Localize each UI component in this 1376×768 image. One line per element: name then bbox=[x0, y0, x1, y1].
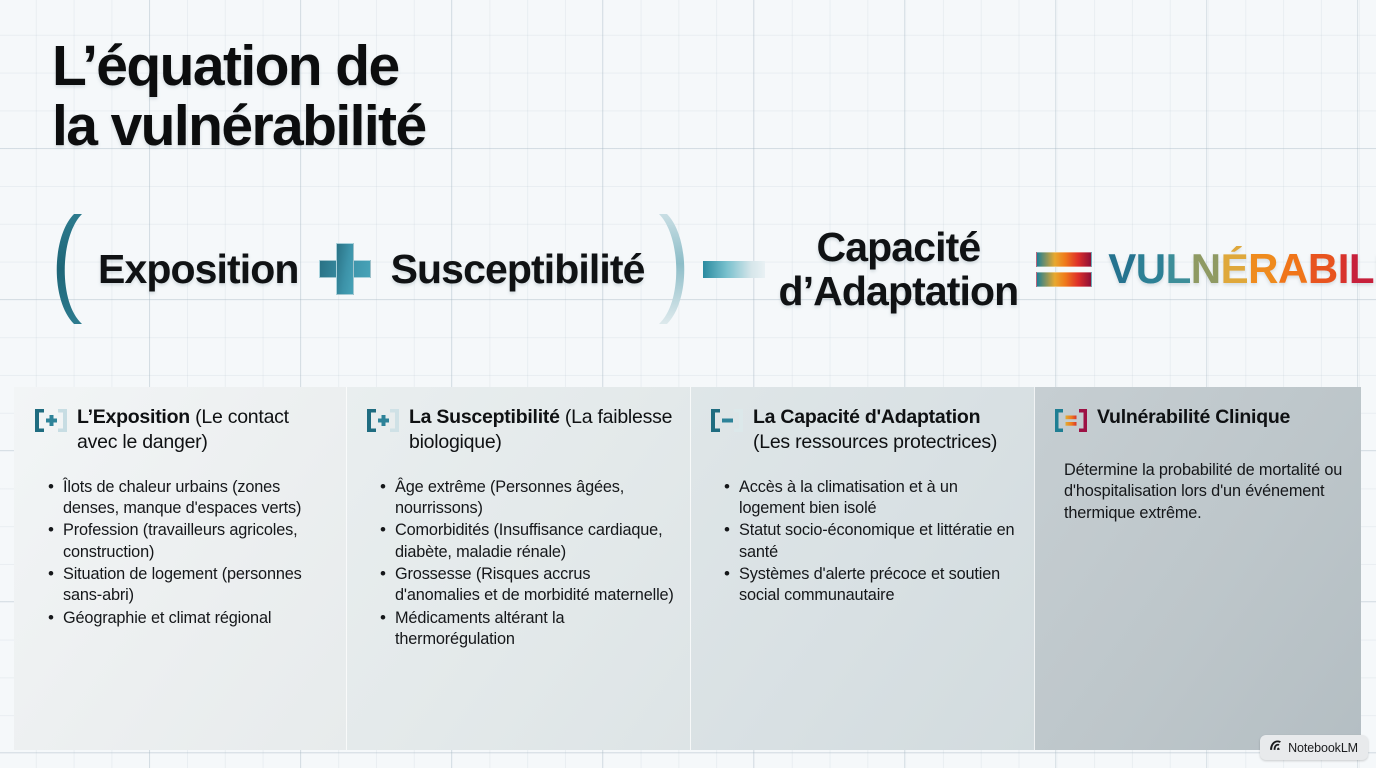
result-letter: L bbox=[1166, 245, 1191, 292]
list-item: Accès à la climatisation et à un logemen… bbox=[724, 477, 1018, 520]
card-bullet-list: Îlots de chaleur urbains (zones denses, … bbox=[48, 477, 330, 629]
card-title: La Capacité d'Adaptation bbox=[753, 406, 980, 428]
card-susceptibilite: La Susceptibilité (La faiblesse biologiq… bbox=[346, 387, 690, 750]
result-letter: U bbox=[1136, 245, 1166, 292]
list-item: Médicaments altérant la thermorégulation bbox=[380, 608, 674, 651]
card-title-block: La Susceptibilité (La faiblesse biologiq… bbox=[409, 405, 674, 455]
list-item: Situation de logement (personnes sans-ab… bbox=[48, 564, 330, 607]
card-header: La Capacité d'Adaptation (Les ressources… bbox=[710, 405, 1018, 455]
result-letter: É bbox=[1221, 245, 1249, 292]
list-item: Grossesse (Risques accrus d'anomalies et… bbox=[380, 564, 674, 607]
bracket-plus-icon bbox=[366, 408, 400, 433]
list-item: Âge extrême (Personnes âgées, nourrisson… bbox=[380, 477, 674, 520]
card-exposition: L’Exposition (Le contact avec le danger)… bbox=[14, 387, 346, 750]
term-susceptibilite: Susceptibilité bbox=[391, 246, 645, 293]
equals-operator-icon bbox=[1036, 247, 1092, 292]
vulnerability-equation: Exposition Susceptibilité Capacité d’Ada… bbox=[48, 205, 1348, 333]
result-letter: L bbox=[1349, 245, 1374, 292]
minus-operator-icon bbox=[703, 261, 765, 278]
bracket-equals-icon bbox=[1054, 408, 1088, 433]
card-title: L’Exposition bbox=[77, 406, 190, 428]
card-header: La Susceptibilité (La faiblesse biologiq… bbox=[366, 405, 674, 455]
list-item: Comorbidités (Insuffisance cardiaque, di… bbox=[380, 520, 674, 563]
card-bullet-list: Accès à la climatisation et à un logemen… bbox=[724, 477, 1018, 607]
card-header: L’Exposition (Le contact avec le danger) bbox=[34, 405, 330, 455]
plus-operator-icon bbox=[319, 243, 371, 295]
card-capacite-adaptation: La Capacité d'Adaptation (Les ressources… bbox=[690, 387, 1034, 750]
card-title: Vulnérabilité Clinique bbox=[1097, 406, 1290, 428]
result-letter: A bbox=[1278, 245, 1308, 292]
list-item: Géographie et climat régional bbox=[48, 608, 330, 629]
term-capacite-adaptation: Capacité d’Adaptation bbox=[779, 225, 1019, 314]
page-title: L’équation de la vulnérabilité bbox=[52, 36, 426, 157]
result-letter: N bbox=[1191, 245, 1221, 292]
card-title-block: La Capacité d'Adaptation (Les ressources… bbox=[753, 405, 1018, 455]
card-title-block: L’Exposition (Le contact avec le danger) bbox=[77, 405, 330, 455]
term-exposition: Exposition bbox=[98, 246, 299, 293]
card-title-block: Vulnérabilité Clinique bbox=[1097, 405, 1290, 430]
bracket-plus-icon bbox=[34, 408, 68, 433]
card-body-text: Détermine la probabilité de mortalité ou… bbox=[1064, 460, 1345, 524]
bracket-minus-icon bbox=[710, 408, 744, 433]
list-item: Statut socio-économique et littératie en… bbox=[724, 520, 1018, 563]
list-item: Profession (travailleurs agricoles, cons… bbox=[48, 520, 330, 563]
close-paren-icon bbox=[651, 210, 693, 328]
notebooklm-watermark: NotebookLM bbox=[1260, 735, 1368, 760]
result-vulnerabilite: VULNÉRABILITÉ bbox=[1108, 245, 1376, 293]
card-header: Vulnérabilité Clinique bbox=[1054, 405, 1345, 433]
card-title: La Susceptibilité bbox=[409, 406, 560, 428]
notebooklm-label: NotebookLM bbox=[1288, 741, 1358, 755]
factor-cards-row: L’Exposition (Le contact avec le danger)… bbox=[14, 387, 1361, 750]
list-item: Îlots de chaleur urbains (zones denses, … bbox=[48, 477, 330, 520]
open-paren-icon bbox=[48, 210, 90, 328]
notebooklm-logo-icon bbox=[1268, 738, 1283, 758]
card-bullet-list: Âge extrême (Personnes âgées, nourrisson… bbox=[380, 477, 674, 651]
list-item: Systèmes d'alerte précoce et soutien soc… bbox=[724, 564, 1018, 607]
result-letter: V bbox=[1108, 245, 1136, 292]
result-letter: B bbox=[1308, 245, 1338, 292]
result-letter: I bbox=[1338, 245, 1349, 292]
card-vulnerabilite-clinique: Vulnérabilité Clinique Détermine la prob… bbox=[1034, 387, 1361, 750]
card-subtitle: (Les ressources protectrices) bbox=[753, 431, 997, 453]
result-letter: R bbox=[1248, 245, 1278, 292]
